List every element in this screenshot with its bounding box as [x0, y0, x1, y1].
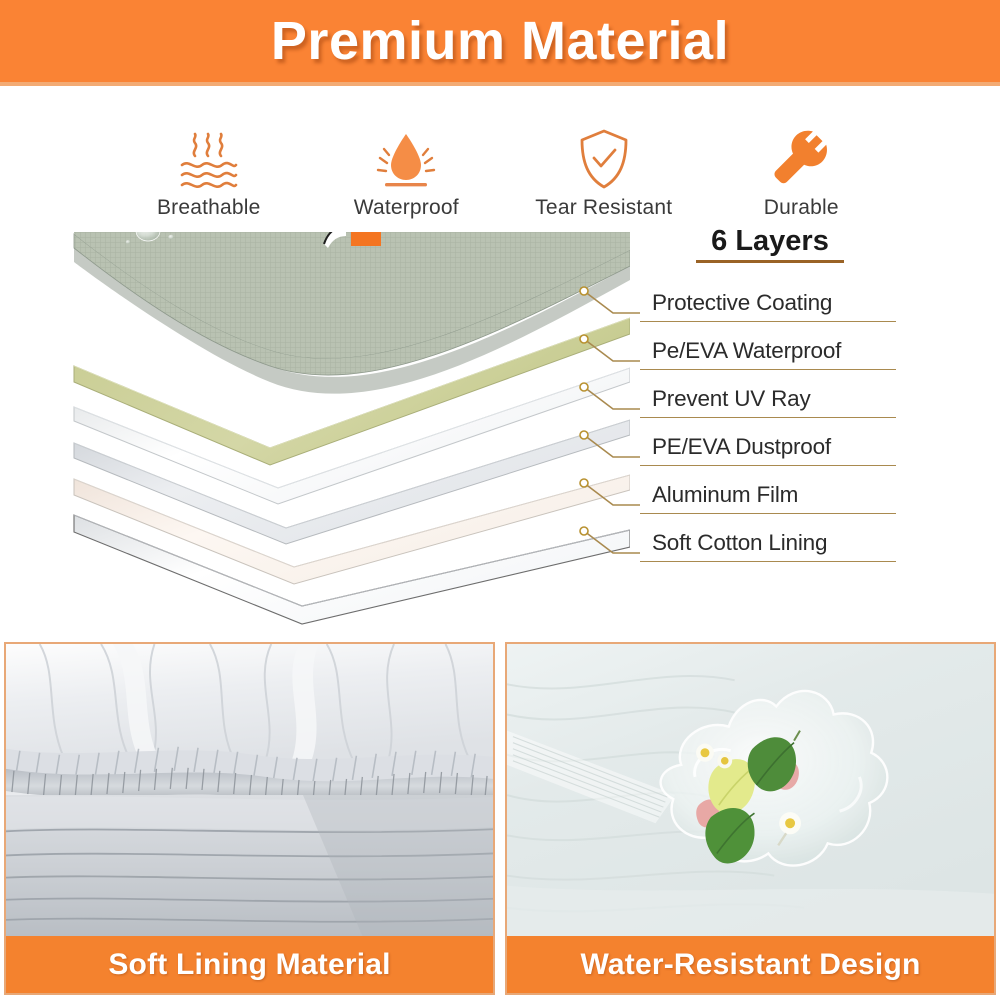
header-banner: Premium Material	[0, 0, 1000, 82]
feature-item-durable: Durable	[703, 128, 901, 220]
soft-lining-photo	[6, 644, 493, 936]
photo-panel-soft-lining: Soft Lining Material	[4, 642, 495, 995]
diagram-layer-soft-cotton-lining	[74, 515, 630, 624]
photo-caption-text: Soft Lining Material	[108, 948, 390, 982]
layer-label: Soft Cotton Lining	[652, 530, 827, 556]
feature-label: Durable	[764, 196, 839, 220]
layer-list-item: Prevent UV Ray	[640, 370, 896, 418]
photo-caption-text: Water-Resistant Design	[580, 948, 920, 982]
water-droplet-icon	[375, 128, 437, 190]
diagram-layer-protective-coating	[74, 232, 630, 394]
header-underline-divider	[0, 82, 1000, 86]
layers-panel: 6 Layers Protective Coating Pe/EVA Water…	[640, 226, 900, 269]
layers-heading-rule	[696, 260, 844, 263]
photo-caption-bar: Water-Resistant Design	[507, 936, 994, 993]
layer-rule	[640, 561, 896, 563]
feature-label: Breathable	[157, 196, 261, 220]
layer-label: Pe/EVA Waterproof	[652, 338, 841, 364]
feature-item-breathable: Breathable	[110, 128, 308, 220]
water-resistant-photo	[507, 644, 994, 936]
layer-label: Prevent UV Ray	[652, 386, 811, 412]
layer-list-item: Aluminum Film	[640, 466, 896, 514]
photo-panel-water-resistant: Water-Resistant Design	[505, 642, 996, 995]
feature-label: Waterproof	[354, 196, 459, 220]
photo-panels-row: Soft Lining Material	[0, 642, 1000, 995]
layers-heading: 6 Layers	[685, 226, 855, 258]
layer-list-item: Protective Coating	[640, 274, 896, 322]
feature-item-tear-resistant: Tear Resistant	[505, 128, 703, 220]
daisy-flower	[696, 744, 714, 762]
layer-list-item: Pe/EVA Waterproof	[640, 322, 896, 370]
photo-caption-bar: Soft Lining Material	[6, 936, 493, 993]
layer-label: Aluminum Film	[652, 482, 798, 508]
layer-label: Protective Coating	[652, 290, 832, 316]
steam-waves-icon	[179, 128, 239, 190]
feature-label: Tear Resistant	[535, 196, 672, 220]
layers-heading-wrap: 6 Layers	[685, 226, 855, 263]
wrench-icon	[771, 128, 831, 190]
feature-item-waterproof: Waterproof	[308, 128, 506, 220]
layer-label: PE/EVA Dustproof	[652, 434, 831, 460]
material-layers-illustration	[70, 232, 630, 632]
page-title: Premium Material	[271, 14, 729, 68]
shield-check-icon	[576, 128, 632, 190]
daisy-flower	[717, 753, 732, 768]
layer-list-item: Soft Cotton Lining	[640, 514, 896, 562]
layer-list-item: PE/EVA Dustproof	[640, 418, 896, 466]
feature-highlights-row: Breathable Waterproof	[110, 112, 900, 220]
